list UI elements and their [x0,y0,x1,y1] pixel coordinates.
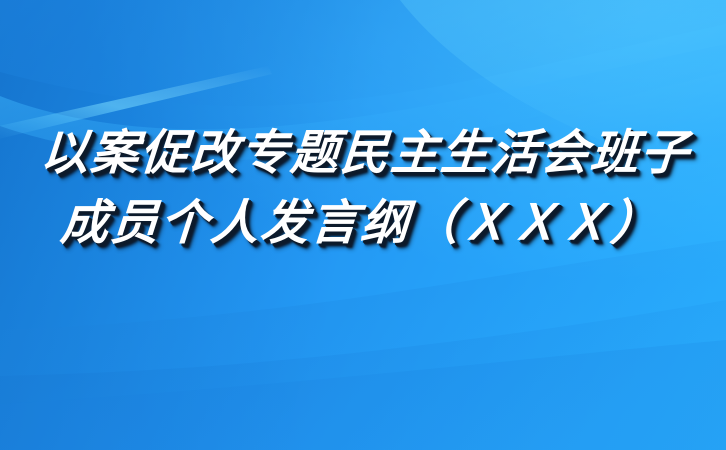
title-container: 以案促改专题民主生活会班子成员个人发言纲（ＸＸＸ） [0,0,726,450]
banner-title: 以案促改专题民主生活会班子成员个人发言纲（ＸＸＸ） [28,118,698,258]
banner-image: 以案促改专题民主生活会班子成员个人发言纲（ＸＸＸ） [0,0,726,450]
